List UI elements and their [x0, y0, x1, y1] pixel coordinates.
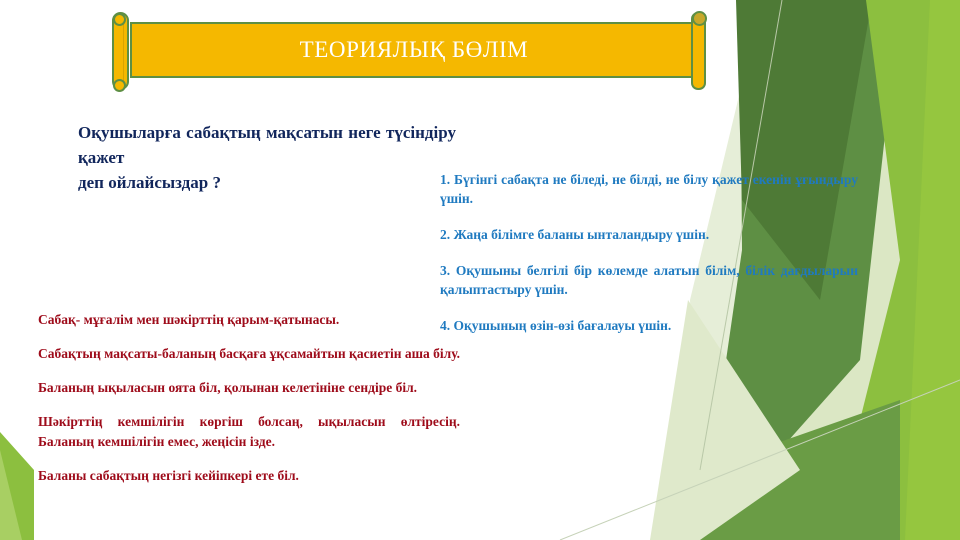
section-banner: ТЕОРИЯЛЫҚ БӨЛІМ	[112, 22, 698, 78]
principle-item-3: Баланың ықыласын оята біл, қолынан келет…	[38, 378, 460, 398]
shape-corner-bottom-left	[0, 432, 34, 540]
banner-title: ТЕОРИЯЛЫҚ БӨЛІМ	[300, 37, 529, 63]
shape-green-lower-block	[690, 400, 900, 540]
shape-corner-bottom-left-pale	[0, 450, 22, 540]
reasons-list: 1. Бүгінгі сабақта не біледі, не білді, …	[440, 170, 858, 335]
question-line-1: Оқушыларға сабақтың мақсатын неге түсінд…	[78, 120, 456, 170]
shape-lime-far-right	[905, 0, 960, 540]
banner-knob-bottom-left-icon	[113, 79, 126, 92]
hairline-diagonal-2	[560, 380, 960, 540]
reason-item-3: 3. Оқушыны белгілі бір көлемде алатын бі…	[440, 261, 858, 299]
reason-item-1: 1. Бүгінгі сабақта не біледі, не білді, …	[440, 170, 858, 208]
principle-item-2: Сабақтың мақсаты-баланың басқаға ұқсамай…	[38, 344, 460, 364]
banner-body: ТЕОРИЯЛЫҚ БӨЛІМ	[130, 22, 698, 78]
question-line-2: деп ойлайсыздар ?	[78, 170, 456, 195]
banner-knob-top-left-icon	[113, 13, 126, 26]
reason-item-2: 2. Жаңа білімге баланы ынталандыру үшін.	[440, 225, 858, 244]
principles-list: Сабақ- мұғалім мен шәкірттің қарым-қатын…	[38, 310, 460, 486]
shape-pale-sliver	[650, 300, 800, 540]
slide-canvas: ТЕОРИЯЛЫҚ БӨЛІМ Оқушыларға сабақтың мақс…	[0, 0, 960, 540]
principle-item-5: Баланы сабақтың негізгі кейіпкері ете бі…	[38, 466, 460, 486]
principle-item-1: Сабақ- мұғалім мен шәкірттің қарым-қатын…	[38, 310, 460, 330]
question-block: Оқушыларға сабақтың мақсатын неге түсінд…	[78, 120, 456, 195]
principle-item-4: Шәкірттің кемшілігін көргіш болсаң, ықыл…	[38, 412, 460, 452]
reason-item-4: 4. Оқушының өзін-өзі бағалауы үшін.	[440, 316, 858, 335]
banner-knob-top-right-icon	[692, 11, 707, 26]
